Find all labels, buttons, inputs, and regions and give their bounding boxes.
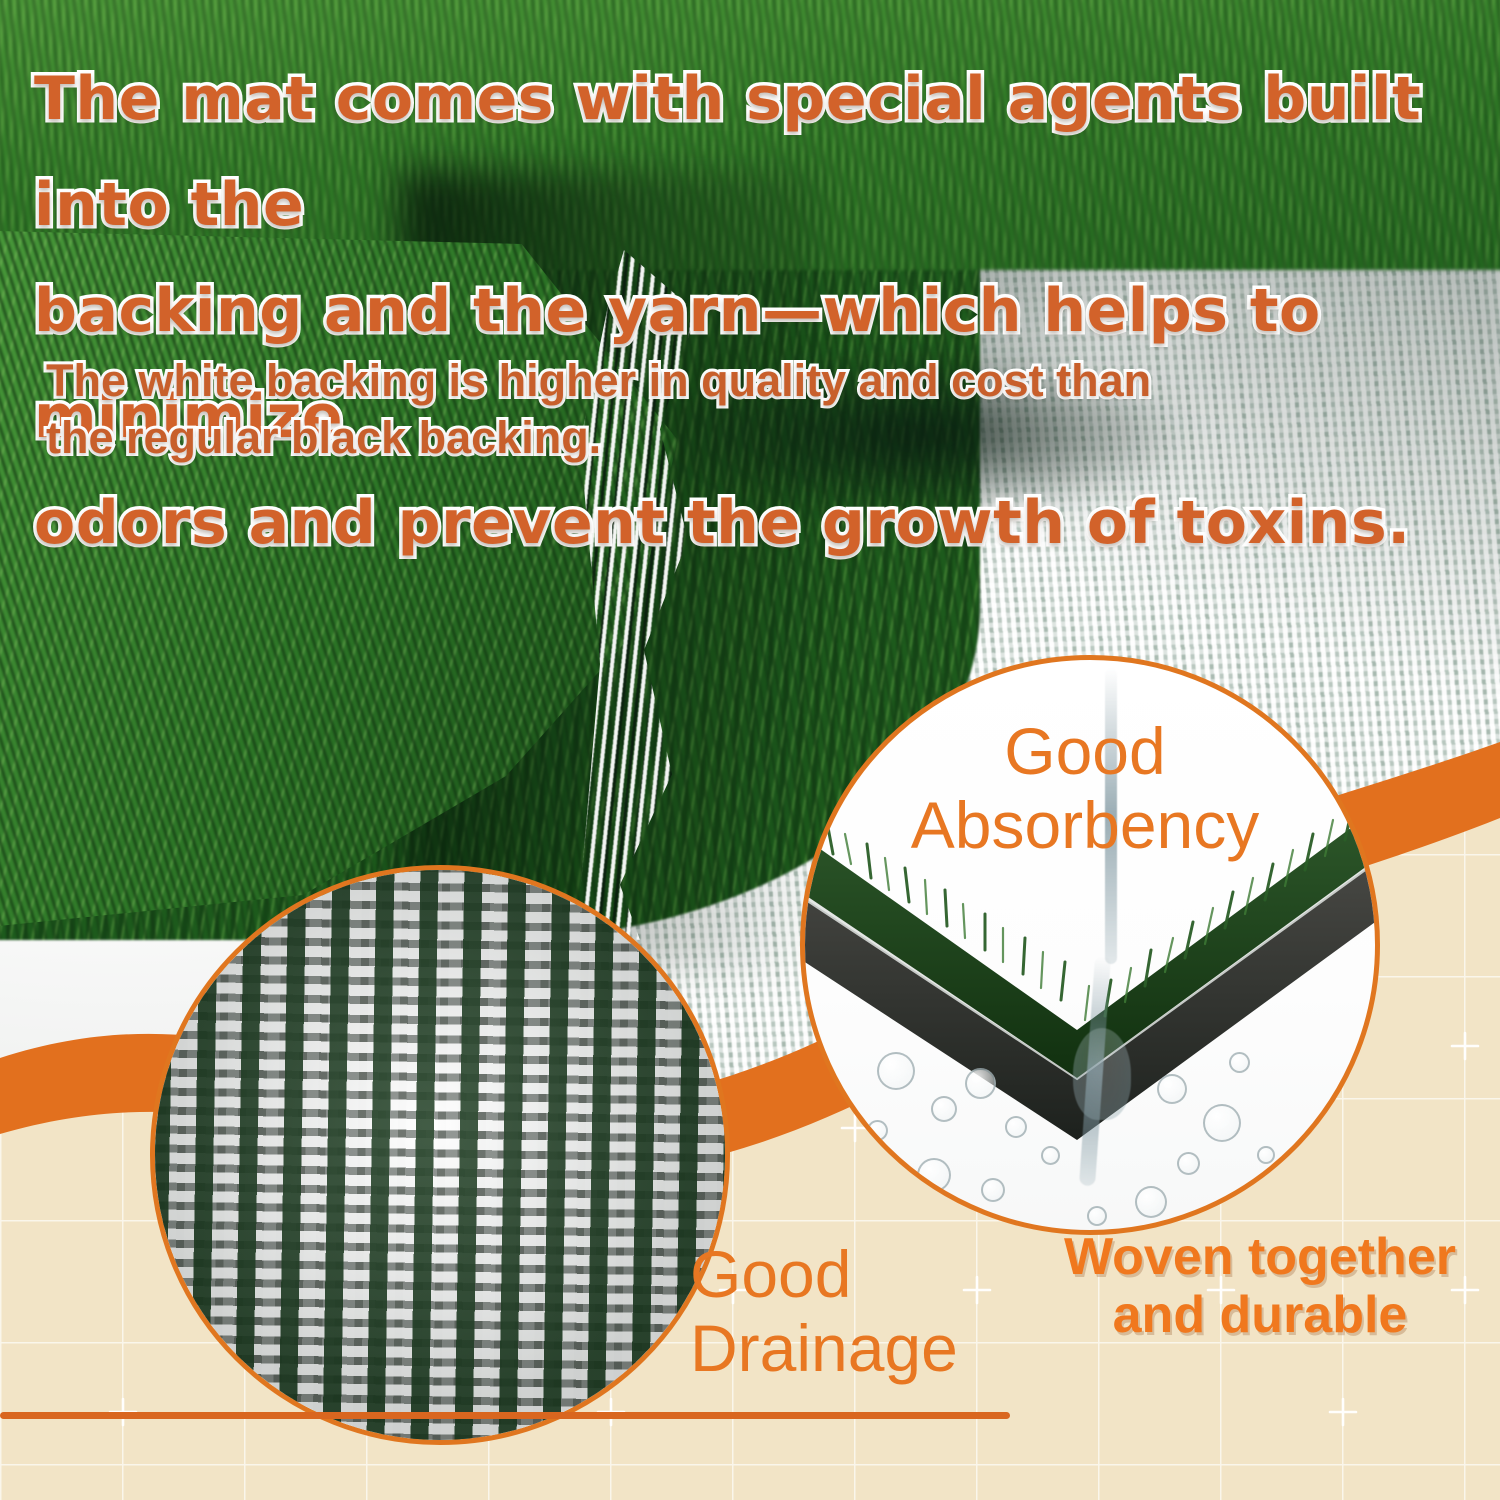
infographic-canvas: The mat comes with special agents built … bbox=[0, 0, 1500, 1500]
absorbency-line-2: Absorbency bbox=[820, 789, 1350, 863]
headline-line-1: The mat comes with special agents built … bbox=[34, 46, 1474, 258]
water-bubble bbox=[1257, 1146, 1275, 1164]
callout-circle-drainage bbox=[150, 865, 730, 1445]
callout-label-absorbency: Good Absorbency bbox=[820, 715, 1350, 863]
subheadline-text: The white backing is higher in quality a… bbox=[46, 352, 1306, 466]
water-splash bbox=[1073, 1028, 1131, 1120]
absorbency-line-1: Good bbox=[820, 715, 1350, 789]
woven-line-2: and durable bbox=[1040, 1286, 1480, 1344]
drainage-underline-rule bbox=[0, 1412, 1010, 1419]
water-bubble bbox=[1041, 1146, 1060, 1165]
callout-label-woven: Woven together and durable bbox=[1040, 1228, 1480, 1344]
water-bubble bbox=[1157, 1074, 1187, 1104]
headline-line-3: odors and prevent the growth of toxins. bbox=[34, 470, 1474, 576]
water-bubble bbox=[1005, 1116, 1027, 1138]
water-bubble bbox=[1135, 1186, 1167, 1218]
headline-text: The mat comes with special agents built … bbox=[34, 46, 1474, 576]
water-bubble bbox=[965, 1068, 996, 1099]
water-bubble bbox=[867, 1120, 888, 1141]
water-bubble bbox=[981, 1178, 1005, 1202]
subheadline-line-2: the regular black backing. bbox=[46, 409, 1306, 466]
water-bubble bbox=[917, 1158, 951, 1192]
drainage-line-2: Drainage bbox=[690, 1312, 1070, 1386]
mesh-vignette bbox=[155, 870, 725, 1440]
subheadline-line-1: The white backing is higher in quality a… bbox=[46, 352, 1306, 409]
water-bubble bbox=[931, 1096, 957, 1122]
water-bubble bbox=[1229, 1052, 1250, 1073]
callout-label-drainage: Good Drainage bbox=[690, 1238, 1070, 1386]
water-bubble bbox=[1087, 1206, 1107, 1226]
water-bubble bbox=[877, 1052, 915, 1090]
woven-line-1: Woven together bbox=[1040, 1228, 1480, 1286]
drainage-line-1: Good bbox=[690, 1238, 1070, 1312]
water-bubble bbox=[1203, 1104, 1241, 1142]
water-bubble bbox=[1177, 1152, 1200, 1175]
